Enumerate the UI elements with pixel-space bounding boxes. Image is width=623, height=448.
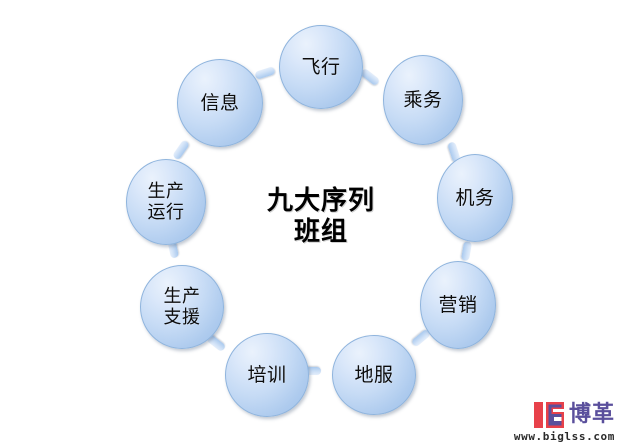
logo-url: www.biglss.com [514,431,615,442]
node-label: 培训 [247,365,286,385]
node-marketing[interactable]: 营销 [420,261,496,349]
logo-row: 博革 [514,402,615,428]
node-maintenance[interactable]: 机务 [437,154,513,242]
node-label: 生产 运行 [148,181,185,223]
node-production-operation[interactable]: 生产 运行 [126,159,206,245]
node-cabin-crew[interactable]: 乘务 [383,55,463,145]
biglss-logo-mark-icon [534,402,564,428]
node-training[interactable]: 培训 [225,333,309,417]
node-label: 营销 [438,295,477,315]
node-label: 地服 [354,365,393,385]
brand-logo: 博革 www.biglss.com [514,402,615,442]
node-label: 机务 [455,188,494,208]
node-label: 乘务 [403,90,442,110]
node-label: 信息 [200,93,239,113]
center-title: 九大序列 班组 [236,186,406,248]
connector-dash [460,241,471,261]
logo-wordmark: 博革 [569,404,615,426]
node-information[interactable]: 信息 [177,59,263,147]
node-ground-service[interactable]: 地服 [332,335,416,415]
node-production-support[interactable]: 生产 支援 [140,265,224,349]
connector-dash [254,66,275,80]
cycle-diagram: 飞行 乘务 机务 营销 地服 培训 生产 支援 生产 运行 信息 九大序列 班组… [0,0,623,448]
node-label: 生产 支援 [164,286,201,328]
connector-dash [172,140,190,161]
node-label: 飞行 [301,57,340,77]
node-flight[interactable]: 飞行 [279,25,363,109]
